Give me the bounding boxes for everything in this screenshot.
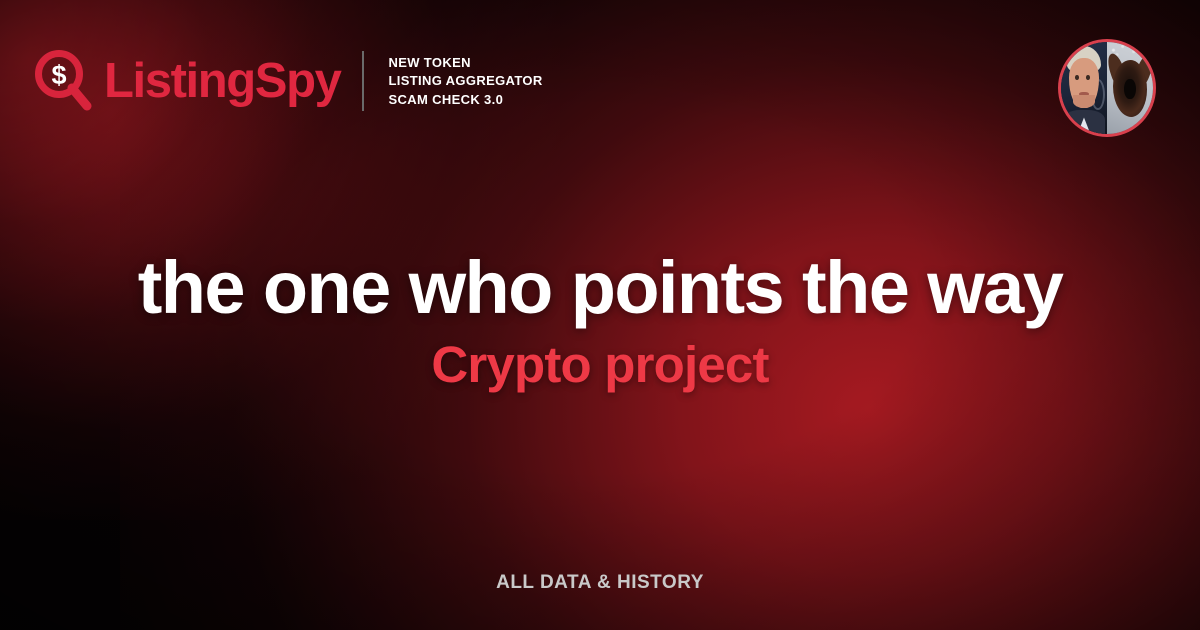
tagline-line-3: SCAM CHECK 3.0	[388, 92, 542, 107]
hero-section: the one who points the way Crypto projec…	[0, 250, 1200, 392]
header: $ ListingSpy NEW TOKEN LISTING AGGREGATO…	[34, 50, 543, 112]
brand-name: ListingSpy	[104, 57, 340, 106]
avatar-half-left	[1061, 42, 1107, 134]
svg-text:$: $	[51, 60, 66, 90]
tagline-line-2: LISTING AGGREGATOR	[388, 73, 542, 88]
page-title: the one who points the way	[0, 250, 1200, 325]
avatar[interactable]	[1058, 39, 1156, 137]
promo-card: $ ListingSpy NEW TOKEN LISTING AGGREGATO…	[0, 0, 1200, 630]
footer-text: ALL DATA & HISTORY	[496, 572, 704, 593]
brand-tagline: NEW TOKEN LISTING AGGREGATOR SCAM CHECK …	[388, 55, 542, 107]
footer: ALL DATA & HISTORY	[0, 572, 1200, 594]
page-subtitle: Crypto project	[0, 338, 1200, 392]
brand-logo[interactable]: $ ListingSpy	[34, 50, 340, 112]
tagline-line-1: NEW TOKEN	[388, 55, 542, 70]
magnifier-dollar-icon: $	[34, 50, 94, 112]
avatar-image	[1061, 42, 1153, 134]
avatar-half-right	[1107, 42, 1153, 134]
header-divider	[362, 51, 364, 111]
